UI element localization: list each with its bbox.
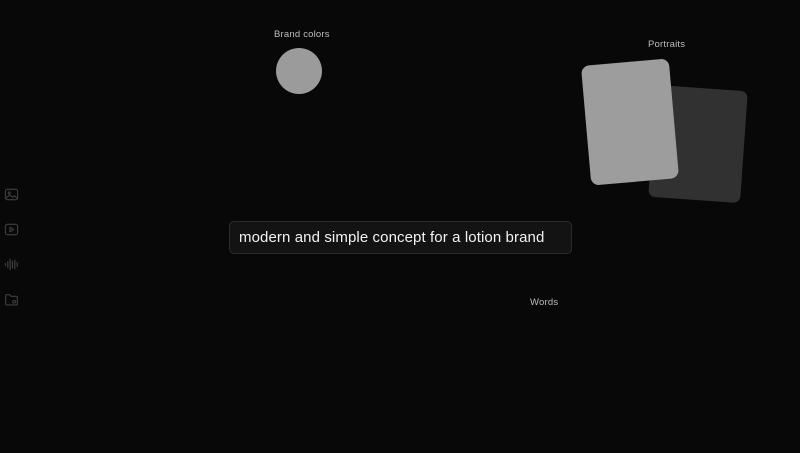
- canvas-root: Brand colors Portraits Words modern and …: [0, 0, 800, 453]
- portrait-card-front[interactable]: [581, 58, 679, 185]
- sidebar-item-video[interactable]: [0, 218, 26, 240]
- sidebar-rail: [0, 183, 34, 310]
- audio-waveform-icon: [4, 257, 20, 272]
- brand-colors-label: Brand colors: [274, 29, 330, 40]
- prompt-input-value: modern and simple concept for a lotion b…: [239, 229, 544, 246]
- video-play-icon: [4, 222, 19, 237]
- sidebar-item-audio[interactable]: [0, 253, 26, 275]
- words-label: Words: [530, 297, 558, 308]
- portraits-label: Portraits: [648, 39, 685, 50]
- prompt-input[interactable]: modern and simple concept for a lotion b…: [229, 221, 572, 254]
- sidebar-item-images[interactable]: [0, 183, 26, 205]
- sidebar-item-files[interactable]: [0, 288, 26, 310]
- folder-icon: [4, 292, 19, 307]
- image-icon: [4, 187, 19, 202]
- brand-color-swatch[interactable]: [276, 48, 322, 94]
